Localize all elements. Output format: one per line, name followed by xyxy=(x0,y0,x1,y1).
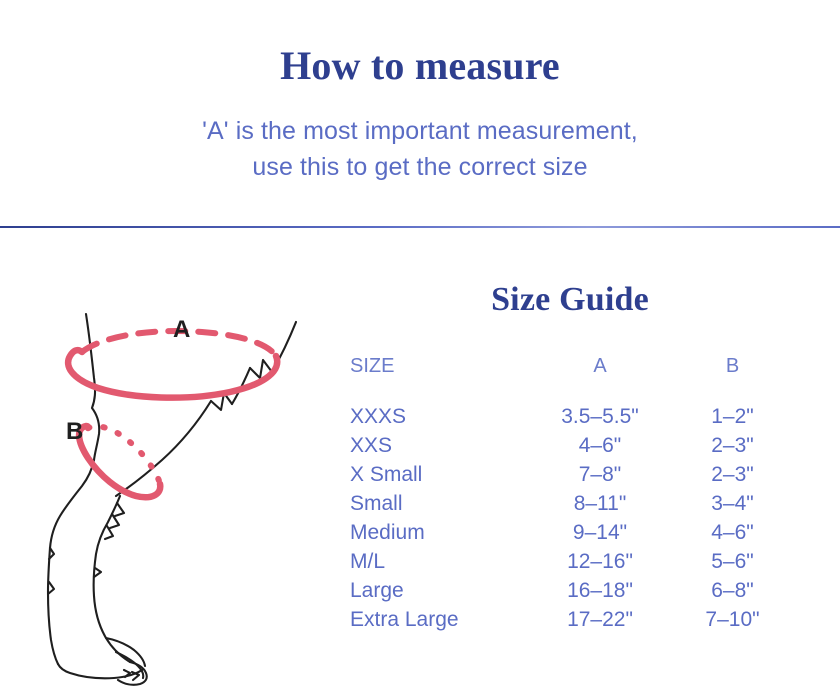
header-divider xyxy=(0,226,840,228)
leg-measurement-diagram xyxy=(20,300,340,690)
column-header-size: SIZE xyxy=(350,355,525,402)
cell-a: 9–14" xyxy=(525,518,675,547)
table-header-row: SIZE A B xyxy=(350,355,790,402)
cell-b: 2–3" xyxy=(675,431,790,460)
paw-outline xyxy=(58,638,147,685)
cell-a: 7–8" xyxy=(525,460,675,489)
cell-a: 16–18" xyxy=(525,576,675,605)
measure-label-b: B xyxy=(66,418,83,446)
cell-size: XXS xyxy=(350,431,525,460)
cell-size: Medium xyxy=(350,518,525,547)
leg-outline-front xyxy=(48,314,99,664)
table-row: X Small 7–8" 2–3" xyxy=(350,460,790,489)
table-row: Extra Large 17–22" 7–10" xyxy=(350,605,790,634)
size-guide: Size Guide SIZE A B XXXS 3.5–5.5" 1–2" X… xyxy=(350,280,820,634)
leg-outline-back xyxy=(94,496,130,662)
table-row: Large 16–18" 6–8" xyxy=(350,576,790,605)
column-header-b: B xyxy=(675,355,790,402)
table-row: XXS 4–6" 2–3" xyxy=(350,431,790,460)
column-header-a: A xyxy=(525,355,675,402)
cell-a: 12–16" xyxy=(525,547,675,576)
table-row: Small 8–11" 3–4" xyxy=(350,489,790,518)
cell-size: X Small xyxy=(350,460,525,489)
cell-a: 17–22" xyxy=(525,605,675,634)
cell-b: 3–4" xyxy=(675,489,790,518)
cell-size: Large xyxy=(350,576,525,605)
cell-b: 4–6" xyxy=(675,518,790,547)
header: How to measure 'A' is the most important… xyxy=(0,0,840,226)
leg-diagram-svg xyxy=(20,300,340,690)
cell-b: 6–8" xyxy=(675,576,790,605)
measure-label-a: A xyxy=(173,316,190,344)
cell-b: 2–3" xyxy=(675,460,790,489)
cell-size: Extra Large xyxy=(350,605,525,634)
size-guide-body: XXXS 3.5–5.5" 1–2" XXS 4–6" 2–3" X Small… xyxy=(350,402,790,634)
page-title: How to measure xyxy=(0,42,840,90)
cell-b: 1–2" xyxy=(675,402,790,431)
subtitle-line-2: use this to get the correct size xyxy=(0,149,840,185)
size-guide-table: SIZE A B XXXS 3.5–5.5" 1–2" XXS 4–6" 2–3… xyxy=(350,355,790,634)
measure-ring-b xyxy=(79,426,160,497)
cell-b: 5–6" xyxy=(675,547,790,576)
cell-size: XXXS xyxy=(350,402,525,431)
table-row: XXXS 3.5–5.5" 1–2" xyxy=(350,402,790,431)
cell-a: 8–11" xyxy=(525,489,675,518)
cell-a: 4–6" xyxy=(525,431,675,460)
cell-b: 7–10" xyxy=(675,605,790,634)
subtitle-line-1: 'A' is the most important measurement, xyxy=(0,113,840,149)
table-row: M/L 12–16" 5–6" xyxy=(350,547,790,576)
cell-size: Small xyxy=(350,489,525,518)
size-guide-title: Size Guide xyxy=(350,280,790,321)
table-row: Medium 9–14" 4–6" xyxy=(350,518,790,547)
cell-a: 3.5–5.5" xyxy=(525,402,675,431)
cell-size: M/L xyxy=(350,547,525,576)
size-guide-header: SIZE A B xyxy=(350,355,790,402)
page-subtitle: 'A' is the most important measurement, u… xyxy=(0,113,840,186)
